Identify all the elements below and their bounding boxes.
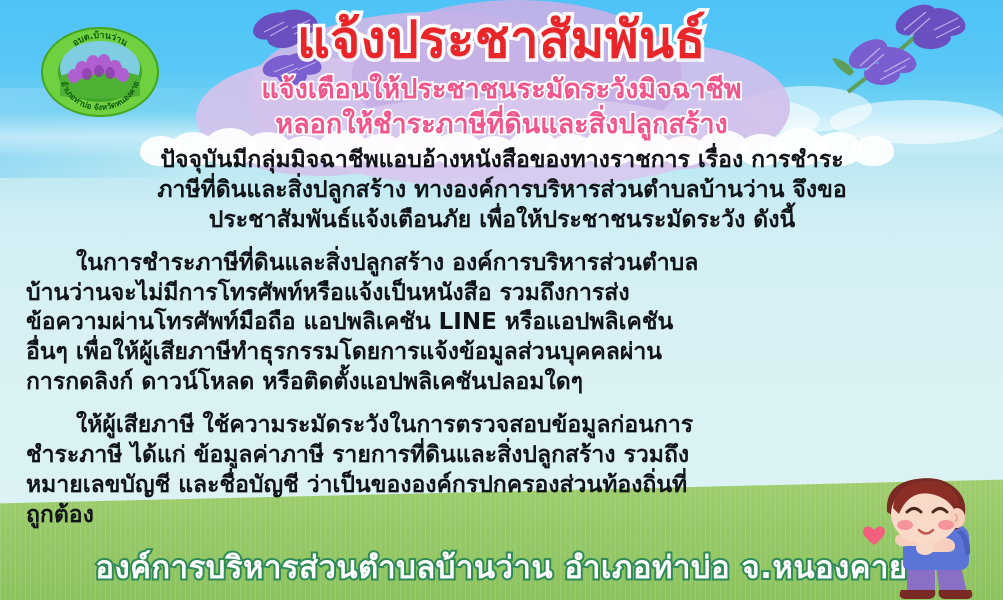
paragraph-1: ปัจจุบันมีกลุ่มมิจฉาชีพแอบอ้างหนังสือของ… xyxy=(26,146,978,236)
announcement-poster: อบต.บ้านว่าน อำเภอท่าบ่อ จังหวัดหนองคาย xyxy=(0,0,1003,600)
paragraph-line: ปัจจุบันมีกลุ่มมิจฉาชีพแอบอ้างหนังสือของ… xyxy=(26,146,978,176)
paragraph-line: ถูกต้อง xyxy=(26,501,978,531)
headline-block: แจ้งประชาสัมพันธ์ แจ้งเตือนให้ประชาชนระม… xyxy=(0,14,1003,142)
paragraph-line: หมายเลขบัญชี และชื่อบัญชี ว่าเป็นขององค์… xyxy=(26,471,978,501)
paragraph-3: ให้ผู้เสียภาษี ใช้ความระมัดระวังในการตรว… xyxy=(26,411,978,531)
announcement-body: ปัจจุบันมีกลุ่มมิจฉาชีพแอบอ้างหนังสือของ… xyxy=(26,146,978,544)
paragraph-2: ในการชำระภาษีที่ดินและสิ่งปลูกสร้าง องค์… xyxy=(26,249,978,398)
page-subtitle: แจ้งเตือนให้ประชาชนระมัดระวังมิจฉาชีพ หล… xyxy=(0,72,1003,142)
paragraph-line: ภาษีที่ดินและสิ่งปลูกสร้าง ทางองค์การบริ… xyxy=(26,176,978,206)
paragraph-line: ชำระภาษี ได้แก่ ข้อมูลค่าภาษี รายการที่ด… xyxy=(26,441,978,471)
subtitle-line: แจ้งเตือนให้ประชาชนระมัดระวังมิจฉาชีพ xyxy=(0,72,1003,107)
heart-icon xyxy=(863,526,885,546)
paragraph-line: ประชาสัมพันธ์แจ้งเตือนภัย เพื่อให้ประชาช… xyxy=(26,206,978,236)
paragraph-line: อื่นๆ เพื่อให้ผู้เสียภาษีทำธุรกรรมโดยการ… xyxy=(26,338,978,368)
paragraph-line: บ้านว่านจะไม่มีการโทรศัพท์หรือแจ้งเป็นหน… xyxy=(26,279,978,309)
paragraph-line: ในการชำระภาษีที่ดินและสิ่งปลูกสร้าง องค์… xyxy=(26,249,978,279)
subtitle-line: หลอกให้ชำระภาษีที่ดินและสิ่งปลูกสร้าง xyxy=(0,107,1003,142)
paragraph-line: ข้อความผ่านโทรศัพท์มือถือ แอปพลิเคชัน LI… xyxy=(26,308,978,338)
page-title: แจ้งประชาสัมพันธ์ xyxy=(0,14,1003,68)
paragraph-line: การกดลิงก์ ดาวน์โหลด หรือติดตั้งแอปพลิเค… xyxy=(26,368,978,398)
paragraph-line: ให้ผู้เสียภาษี ใช้ความระมัดระวังในการตรว… xyxy=(26,411,978,441)
